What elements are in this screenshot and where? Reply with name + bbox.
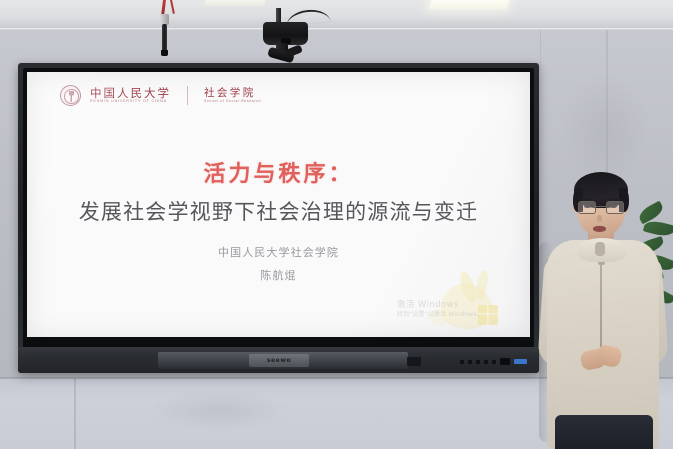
- collar-opening: [595, 242, 605, 256]
- logo-divider: [187, 86, 188, 105]
- usb3-port[interactable]: [514, 359, 527, 364]
- wall-texture-smudge: [150, 390, 290, 430]
- port-indicator-dot: [460, 360, 464, 364]
- board-bottom-bezel: seewo: [18, 347, 539, 373]
- board-port-panel[interactable]: [460, 358, 527, 365]
- glasses-left-lens: [578, 201, 596, 214]
- board-brand-text: seewo: [267, 357, 291, 364]
- glasses-bridge: [596, 206, 606, 207]
- board-brand-logo: seewo: [249, 354, 309, 367]
- wall-seam-vertical-left: [74, 378, 76, 449]
- rabbit-decoration-icon: [424, 269, 516, 331]
- cable-tip: [161, 50, 168, 56]
- presenter-mouth: [593, 226, 606, 232]
- wall-seam-vertical-upper: [540, 30, 541, 70]
- slide-subtitle: 发展社会学视野下社会治理的源流与变迁: [27, 196, 530, 226]
- presenter-pants: [555, 415, 653, 449]
- slide-organization: 中国人民大学社会学院: [27, 244, 530, 260]
- interactive-smart-board[interactable]: 中国人民大学 RENMIN UNIVERSITY OF CHINA 社会学院 S…: [18, 63, 539, 373]
- bezel-sensor-window: [407, 357, 421, 366]
- slide-logo-lockup: 中国人民大学 RENMIN UNIVERSITY OF CHINA 社会学院 S…: [60, 85, 261, 106]
- presenter-nose: [597, 215, 602, 222]
- glasses-right-lens: [606, 201, 624, 214]
- presentation-slide: 中国人民大学 RENMIN UNIVERSITY OF CHINA 社会学院 S…: [27, 72, 530, 337]
- port-indicator-dot: [492, 360, 496, 364]
- school-name-en: School of Social Research: [204, 100, 261, 104]
- port-indicator-dot: [476, 360, 480, 364]
- usb-port[interactable]: [500, 358, 510, 365]
- university-name-cn: 中国人民大学: [90, 87, 171, 99]
- jacket-zipper: [600, 256, 602, 352]
- port-indicator-dot: [468, 360, 472, 364]
- university-name-en: RENMIN UNIVERSITY OF CHINA: [90, 100, 171, 104]
- presenter-glasses: [578, 201, 624, 214]
- black-cable: [162, 24, 167, 52]
- lecture-room-scene: 中国人民大学 RENMIN UNIVERSITY OF CHINA 社会学院 S…: [0, 0, 673, 449]
- slide-main-title: 活力与秩序：: [27, 156, 530, 188]
- presenter-person: [533, 160, 673, 449]
- university-name-block: 中国人民大学 RENMIN UNIVERSITY OF CHINA: [90, 87, 171, 104]
- university-seal-icon: [60, 85, 81, 106]
- port-indicator-dot: [484, 360, 488, 364]
- school-name-block: 社会学院 School of Social Research: [204, 88, 261, 104]
- ceiling-light-panel-secondary: [204, 0, 266, 6]
- school-name-cn: 社会学院: [204, 88, 261, 99]
- ceiling-light-panel: [429, 0, 510, 9]
- ceiling: [0, 0, 673, 30]
- board-display-screen[interactable]: 中国人民大学 RENMIN UNIVERSITY OF CHINA 社会学院 S…: [27, 72, 530, 337]
